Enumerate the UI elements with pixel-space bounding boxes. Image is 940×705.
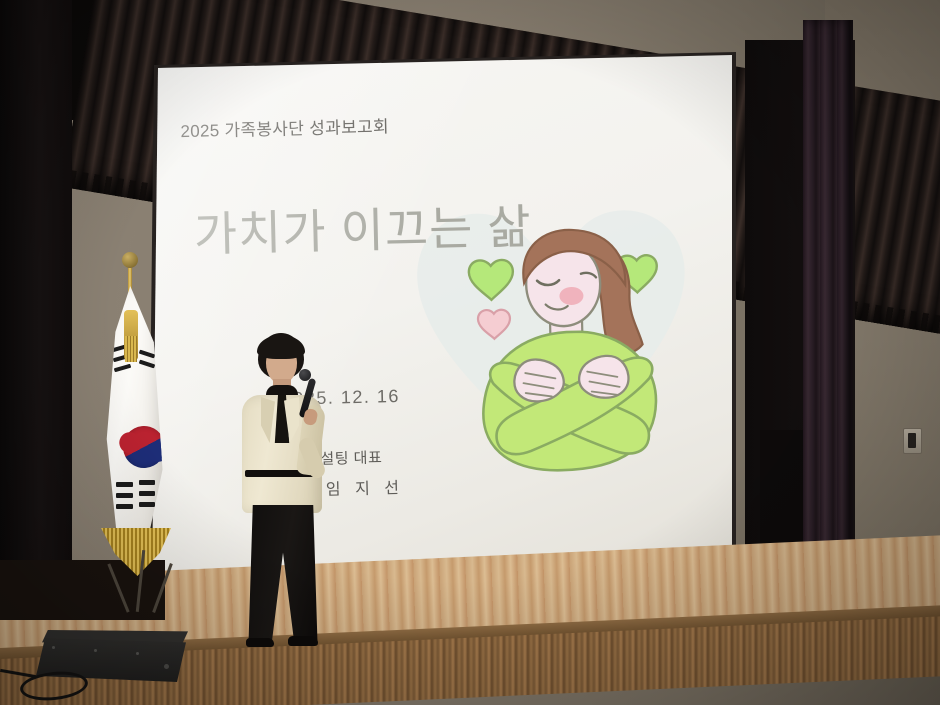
trigram-bar: [116, 504, 133, 509]
trigram-bar: [116, 493, 133, 498]
stand-leg: [136, 550, 145, 612]
taeguk-circle: [116, 419, 173, 476]
trigram-bar: [139, 480, 155, 485]
trigram-bar: [114, 364, 131, 373]
slide-title: 가치가 이끄는 삶: [193, 188, 532, 265]
korean-national-flag: [95, 250, 195, 610]
trousers: [247, 505, 319, 645]
stand-leg: [107, 563, 129, 612]
photo-scene: 2025 가족봉사단 성과보고회 가치가 이끄는 삶 2025. 12. 16 …: [0, 0, 940, 705]
wall-light-switch[interactable]: [903, 428, 922, 454]
hair-front: [257, 335, 305, 359]
stand-leg: [152, 563, 173, 613]
flag-tassel: [124, 310, 138, 360]
monitor-screw: [94, 649, 97, 652]
monitor-screw: [52, 646, 55, 649]
trigram-bar: [139, 491, 155, 496]
microphone-icon: [299, 369, 311, 381]
green-heart-left: [469, 260, 514, 301]
right-purple-curtain: [803, 20, 853, 595]
shoe-left: [246, 638, 274, 647]
pink-heart-small: [478, 310, 511, 340]
slide-eyebrow: 2025 가족봉사단 성과보고회: [180, 112, 389, 142]
slide-presenter-name: 임 지 선: [326, 474, 405, 500]
monitor-jack: [164, 664, 169, 669]
trigram-bar: [116, 482, 133, 487]
presenter: [228, 333, 336, 663]
shoe-right: [288, 636, 318, 646]
flag-stand: [109, 550, 185, 615]
monitor-screw: [136, 652, 139, 655]
trigram-bar: [139, 350, 155, 359]
switch-toggle-icon: [908, 433, 916, 448]
trigram-bar: [139, 360, 155, 369]
flag-pole-finial: [122, 252, 138, 268]
trigram-bar: [139, 502, 155, 507]
